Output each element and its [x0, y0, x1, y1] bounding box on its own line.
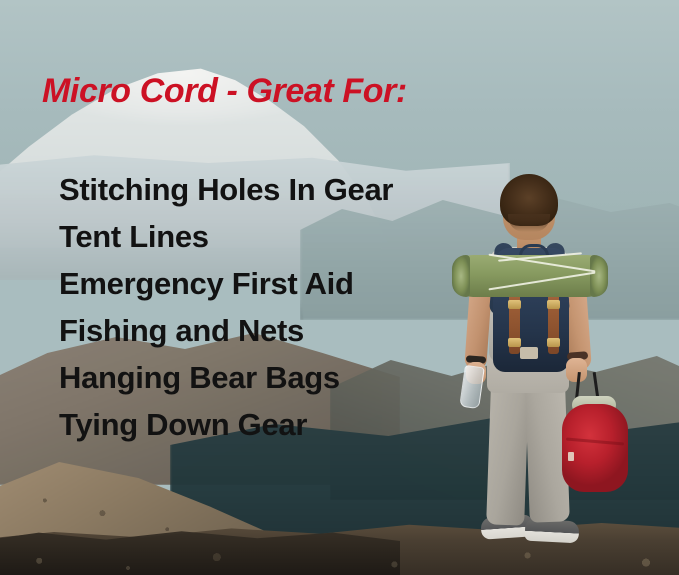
list-item: Tying Down Gear [59, 401, 489, 448]
list-item: Stitching Holes In Gear [59, 166, 489, 213]
list-item: Fishing and Nets [59, 307, 489, 354]
backpack-buckle-left-upper [508, 300, 521, 309]
hiker-shoe-right [524, 519, 579, 544]
product-infographic-poster: Micro Cord - Great For: Stitching Holes … [0, 0, 679, 575]
backpack-buckle-left-lower [508, 338, 521, 347]
sleeping-mat-end-right [590, 255, 608, 297]
backpack-brand-tag [520, 347, 538, 359]
red-stuff-sack [562, 404, 628, 492]
backpack-buckle-right-upper [547, 300, 560, 309]
benefits-list: Stitching Holes In Gear Tent Lines Emerg… [59, 166, 489, 448]
list-item: Tent Lines [59, 213, 489, 260]
stuff-sack-label [568, 452, 574, 461]
backpack-buckle-right-lower [547, 338, 560, 347]
foreground-rock-speckle [0, 505, 679, 575]
list-item: Hanging Bear Bags [59, 354, 489, 401]
page-title: Micro Cord - Great For: [42, 72, 407, 111]
list-item: Emergency First Aid [59, 260, 489, 307]
